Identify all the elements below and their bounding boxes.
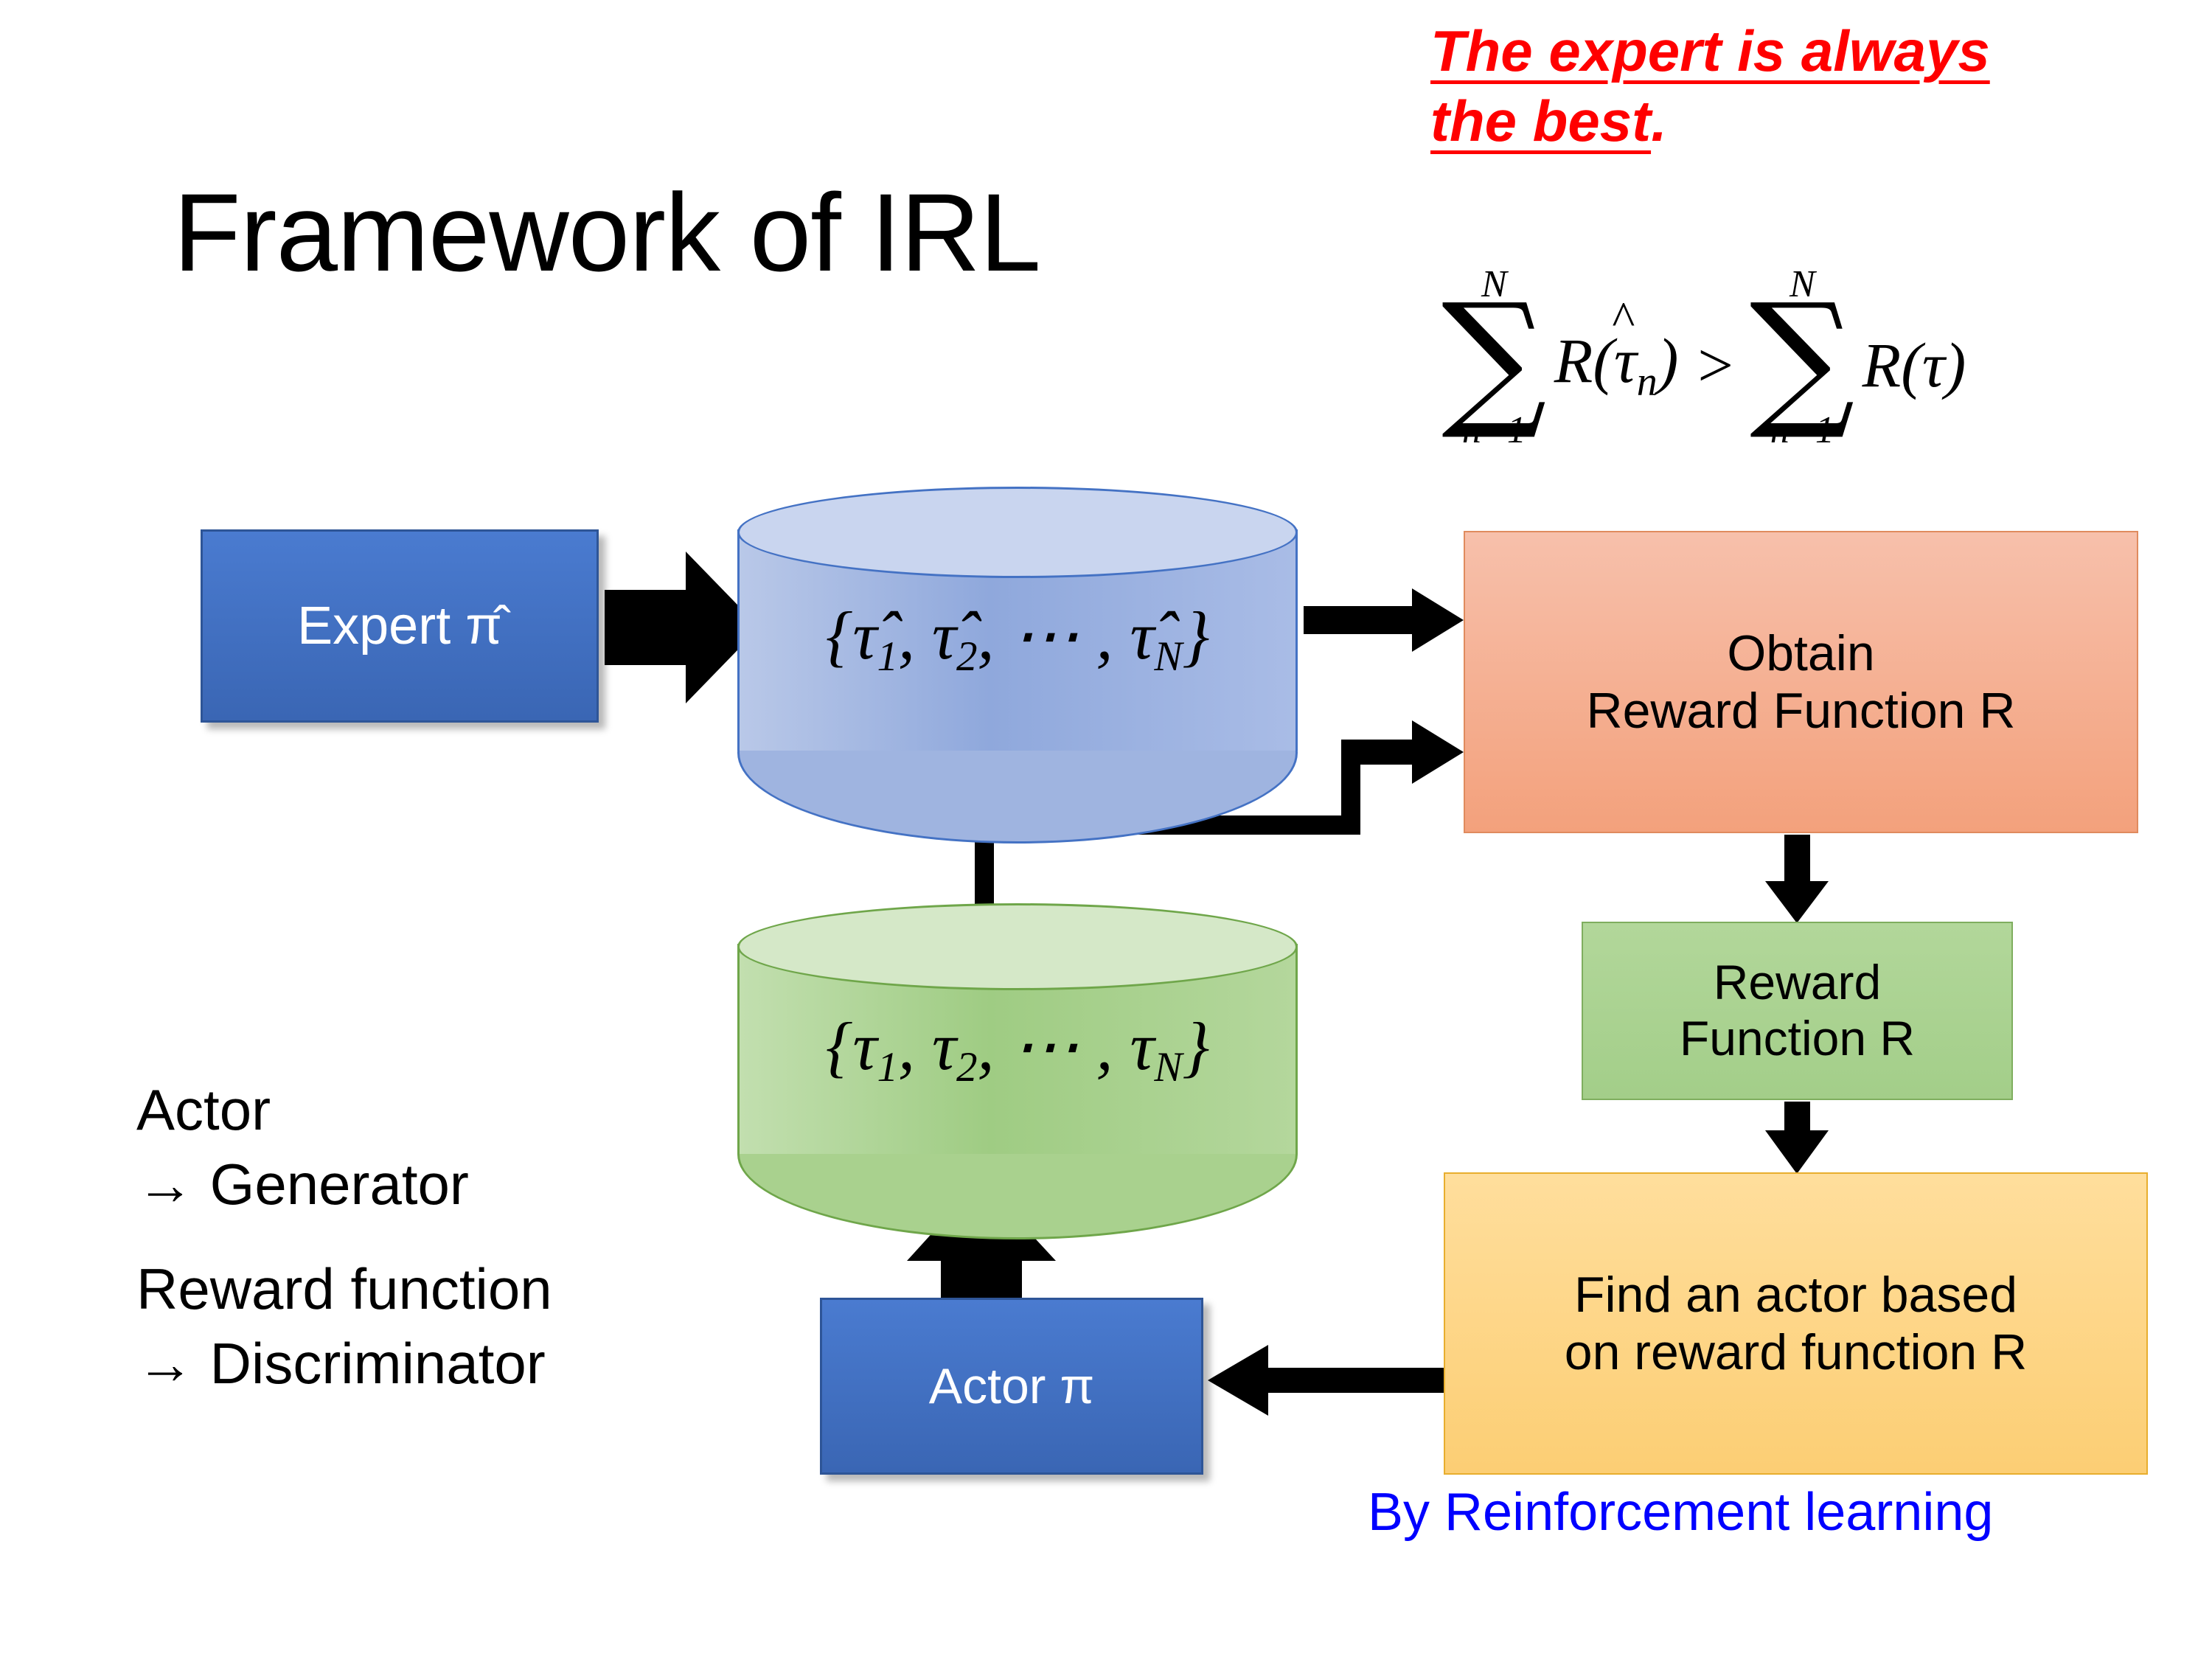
page-title: Framework of IRL (173, 177, 1040, 288)
comparator-greater-than: > (1697, 328, 1733, 402)
find-actor-line1: Find an actor based (1565, 1266, 2027, 1324)
arrow-expert-trajectories-to-obtain (1304, 588, 1464, 652)
red-note-line1: The expert is always (1430, 18, 1990, 83)
actor-trajectories-cylinder[interactable]: {τ1, τ2, ⋯ , τN} (737, 903, 1298, 1191)
sum-right-lower-limit: n=1 (1770, 411, 1834, 450)
term-left: R(τn) (1554, 324, 1679, 406)
legend-item1-line1: Actor (136, 1073, 800, 1147)
expert-trajectories-label: {τ̂1, τ̂2, ⋯ , τ̂N} (737, 596, 1298, 681)
arrow-reward-function-to-find-actor (1765, 1102, 1829, 1174)
red-note-period: . (1651, 88, 1667, 153)
term-right-close: ) (1945, 330, 1966, 400)
expert-policy-box[interactable]: Expert π̂ (201, 529, 599, 723)
sigma-right-icon: ∑ (1750, 298, 1855, 419)
actor-set-open: { (826, 1009, 853, 1084)
inequality-formula: N ∑ n=1 R(τn) > N ∑ n=1 R(τ) (1441, 229, 2208, 487)
summation-left: N ∑ n=1 (1441, 265, 1547, 450)
actor-policy-label: Actor π (929, 1357, 1095, 1415)
obtain-reward-function-box[interactable]: Obtain Reward Function R (1464, 531, 2138, 833)
expert-set-close: } (1182, 598, 1209, 673)
term-right-var: τ (1922, 330, 1945, 400)
sum-left-lower-limit: n=1 (1462, 411, 1526, 450)
reward-function-line1: Reward (1680, 955, 1915, 1011)
cylinder-top-cap (737, 903, 1298, 990)
cylinder-top-cap (737, 487, 1298, 578)
expert-set-open: { (826, 598, 853, 673)
term-left-close: ) (1658, 325, 1679, 396)
arrow-expert-to-expert-trajectories (605, 552, 759, 703)
actor-trajectories-label: {τ1, τ2, ⋯ , τN} (737, 1006, 1298, 1091)
term-right-fn: R( (1863, 330, 1922, 400)
obtain-box-line2: Reward Function R (1586, 682, 2015, 740)
arrowhead-actor-trajectories-to-obtain (1351, 720, 1464, 784)
legend-item2-line2: → Discriminator (136, 1326, 800, 1401)
find-actor-box[interactable]: Find an actor based on reward function R (1444, 1172, 2148, 1475)
mapping-legend: Actor → Generator Reward function → Disc… (136, 1073, 800, 1402)
legend-spacer (136, 1222, 800, 1252)
obtain-box-line1: Obtain (1586, 625, 2015, 682)
term-left-fn: R( (1554, 325, 1614, 396)
reward-function-line2: Function R (1680, 1011, 1915, 1067)
sigma-left-icon: ∑ (1441, 298, 1547, 419)
reward-function-box[interactable]: Reward Function R (1582, 922, 2013, 1100)
term-left-var: τ (1614, 325, 1637, 396)
legend-item2-line1: Reward function (136, 1252, 800, 1326)
expert-policy-label: Expert π̂ (297, 596, 502, 657)
reinforcement-learning-caption: By Reinforcement learning (1368, 1482, 1993, 1543)
term-left-sub: n (1637, 360, 1658, 406)
arrow-find-actor-to-actor (1208, 1345, 1444, 1416)
expert-trajectories-cylinder[interactable]: {τ̂1, τ̂2, ⋯ , τ̂N} (737, 487, 1298, 789)
actor-policy-box[interactable]: Actor π (820, 1298, 1203, 1475)
arrow-obtain-to-reward-function (1765, 835, 1829, 923)
find-actor-line2: on reward function R (1565, 1324, 2027, 1381)
summation-right: N ∑ n=1 (1750, 265, 1855, 450)
actor-set-close: } (1182, 1009, 1209, 1084)
legend-item1-line2: → Generator (136, 1147, 800, 1222)
red-callout-note: The expert is always the best. (1430, 16, 2168, 156)
red-note-line2: the best (1430, 88, 1651, 153)
term-right: R(τ) (1863, 328, 1966, 402)
